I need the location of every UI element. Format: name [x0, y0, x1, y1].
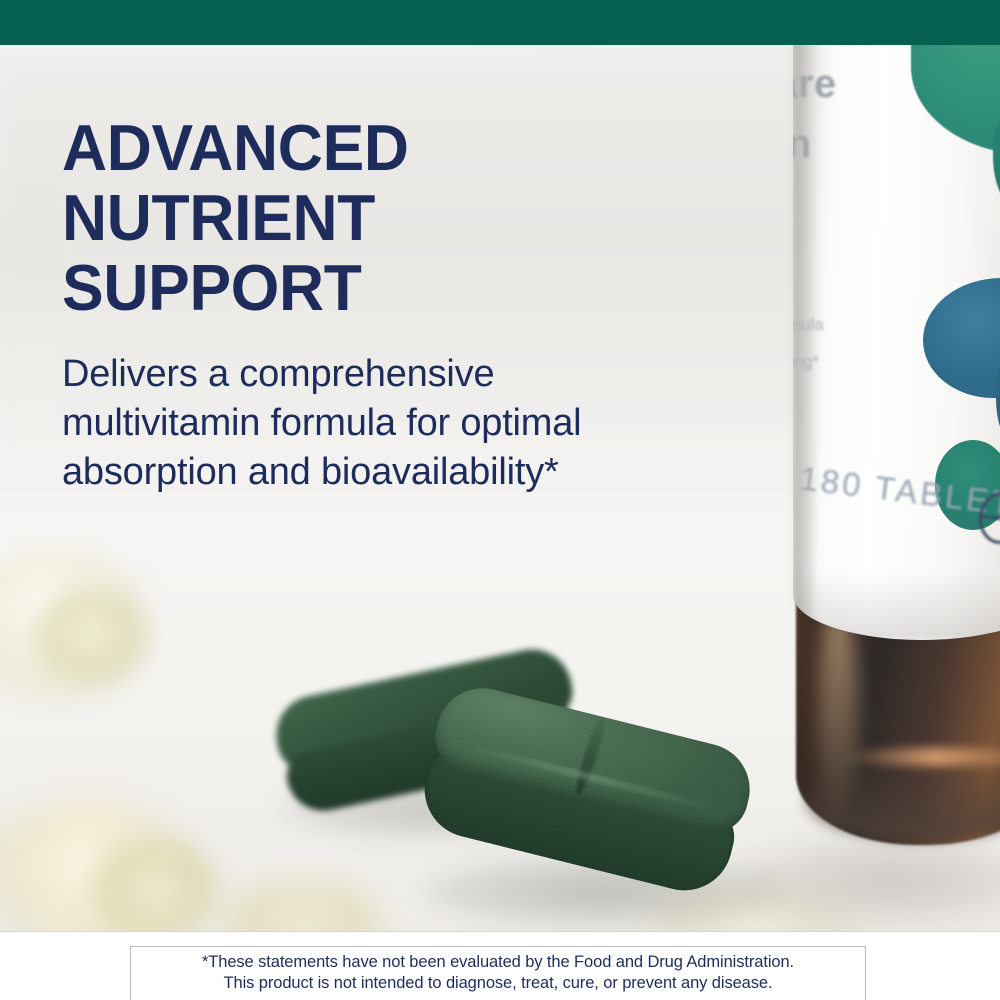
- top-accent-bar: [0, 0, 1000, 45]
- product-marketing-banner: are in an formula lbeing* 180 TABLETS: [0, 0, 1000, 1000]
- bottle-label-text-group: are in an formula lbeing* 180 TABLETS: [793, 45, 1000, 640]
- bottle-label: are in an formula lbeing* 180 TABLETS: [793, 45, 1000, 640]
- subheadline-line-3: absorption and bioavailability*: [62, 448, 762, 497]
- page-title: ADVANCED NUTRIENT SUPPORT: [62, 113, 734, 323]
- disclaimer-line-2: This product is not intended to diagnose…: [137, 973, 859, 994]
- headline-line-2: NUTRIENT: [62, 183, 734, 253]
- headline-line-3: SUPPORT: [62, 253, 734, 323]
- subheadline-line-2: multivitamin formula for optimal: [62, 399, 762, 448]
- label-left-edge-shading: [793, 45, 819, 640]
- subheadline: Delivers a comprehensive multivitamin fo…: [62, 350, 762, 498]
- botanical-blur-left-lower-core: [85, 840, 225, 932]
- botanical-blur-left-upper-core: [30, 590, 150, 685]
- label-bottom-curve-shadow: [793, 570, 1000, 640]
- fda-disclaimer: *These statements have not been evaluate…: [130, 946, 866, 1000]
- tablet-group: [250, 630, 780, 932]
- supplement-bottle: are in an formula lbeing* 180 TABLETS: [788, 45, 1000, 930]
- marketing-copy-block: ADVANCED NUTRIENT SUPPORT Delivers a com…: [62, 113, 762, 498]
- headline-line-1: ADVANCED: [62, 113, 734, 183]
- disclaimer-line-1: *These statements have not been evaluate…: [137, 952, 859, 973]
- label-tablet-count: 180 TABLETS: [798, 459, 1000, 526]
- subheadline-line-1: Delivers a comprehensive: [62, 350, 762, 399]
- footer-bar: *These statements have not been evaluate…: [0, 931, 1000, 1000]
